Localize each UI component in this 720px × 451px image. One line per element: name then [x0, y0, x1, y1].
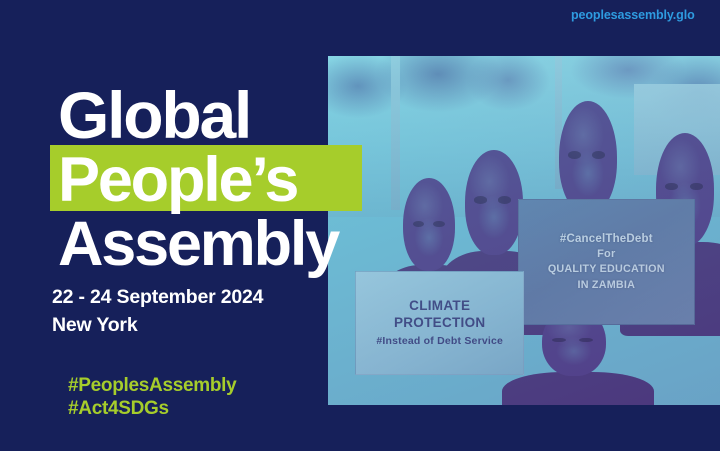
headline-line-peoples: People’s: [58, 149, 297, 212]
debt-sign-line-3: QUALITY EDUCATION: [548, 263, 665, 276]
website-url[interactable]: peoplesassembly.glo: [571, 8, 695, 22]
person-3-head: [559, 101, 617, 214]
person-1-face: [403, 178, 455, 271]
poster-canvas: peoplesassembly.glo: [0, 0, 720, 451]
climate-sign-line-2: PROTECTION: [394, 315, 486, 331]
debt-sign-line-2: For: [597, 248, 615, 261]
person-4-eye-right: [690, 183, 703, 191]
person-2-head: [465, 150, 523, 255]
climate-sign-line-3: #Instead of Debt Service: [376, 335, 503, 348]
event-city: New York: [52, 314, 263, 337]
protest-sign-climate: CLIMATE PROTECTION #Instead of Debt Serv…: [355, 271, 524, 376]
hashtag-act4sdgs[interactable]: #Act4SDGs: [68, 397, 236, 420]
photo-scene: #CancelTheDebt For QUALITY EDUCATION IN …: [328, 56, 720, 405]
hashtag-group: #PeoplesAssembly #Act4SDGs: [68, 374, 236, 420]
climate-sign-line-1: CLIMATE: [409, 298, 470, 314]
person-3-face: [559, 101, 617, 214]
person-3-eye-right: [592, 151, 605, 159]
person-2-eye-left: [474, 196, 487, 203]
debt-sign-line-1: #CancelTheDebt: [560, 232, 653, 246]
person-1-head: [403, 178, 455, 271]
person-2-face: [465, 150, 523, 255]
protest-photo: #CancelTheDebt For QUALITY EDUCATION IN …: [328, 56, 720, 405]
protest-sign-debt: #CancelTheDebt For QUALITY EDUCATION IN …: [518, 199, 694, 325]
headline-line-global: Global: [58, 82, 250, 148]
headline-line-assembly: Assembly: [58, 213, 338, 276]
person-3-eye-left: [568, 151, 581, 159]
person-1-eye-left: [413, 221, 424, 228]
person-5-body: [502, 372, 655, 405]
debt-sign-line-4: IN ZAMBIA: [578, 279, 636, 292]
event-dates: 22 - 24 September 2024: [52, 286, 263, 309]
event-details: 22 - 24 September 2024 New York: [52, 286, 263, 337]
person-2-eye-right: [498, 196, 511, 203]
person-1-eye-right: [433, 221, 444, 228]
hashtag-peoples-assembly[interactable]: #PeoplesAssembly: [68, 374, 236, 397]
